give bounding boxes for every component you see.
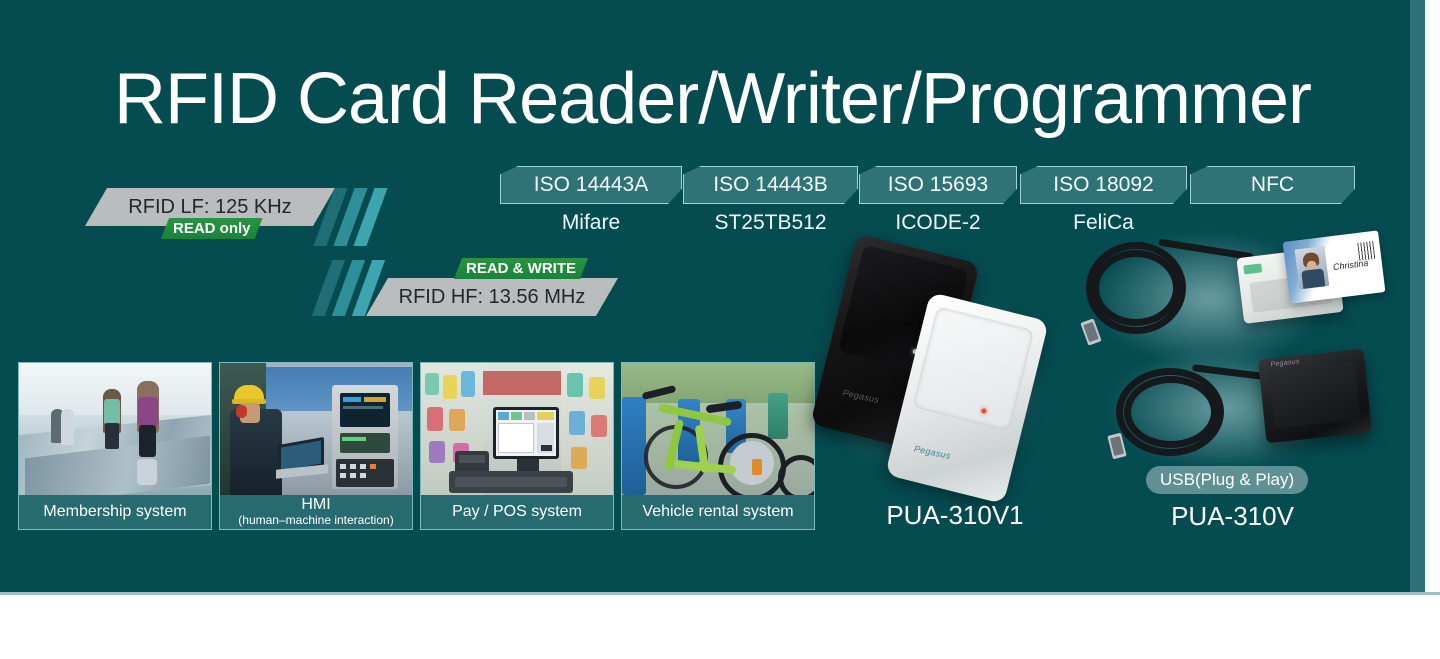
industrial-operator-photo [220,363,412,495]
product-image-pua-310v1: Pegasus Pegasus [818,240,1058,480]
standard-tag: ISO 18092 [1020,166,1187,204]
frequency-hf-bar: RFID HF: 13.56 MHz [366,278,618,316]
standard-tag: ISO 14443A [500,166,682,204]
frequency-lf-group: RFID LF: 125 KHz READ only [85,188,385,248]
application-card-vehicle-rental[interactable]: Vehicle rental system [621,362,815,530]
application-card-membership[interactable]: Membership system [18,362,212,530]
standard-item-iso18092: ISO 18092 FeliCa [1020,166,1187,235]
standard-item-iso15693: ISO 15693 ICODE-2 [859,166,1017,235]
desktop-reader-black: Pegasus [1258,349,1372,444]
usb-plug-and-play-badge: USB(Plug & Play) [1146,466,1308,494]
frequency-hf-group: RFID HF: 13.56 MHz READ & WRITE [318,258,618,318]
right-edge-accent [1410,0,1425,592]
rental-bicycles-photo [622,363,814,495]
standard-tag: ISO 15693 [859,166,1017,204]
frequency-hf-badge: READ & WRITE [454,258,588,279]
product-image-pua-310v: Christina Pegasus [1080,228,1350,458]
application-caption: Vehicle rental system [622,495,814,529]
product-name-pua-310v: PUA-310V [1145,501,1320,532]
frequency-lf-badge: READ only [161,218,263,239]
brand-mark: Pegasus [842,388,880,406]
standard-item-nfc: NFC [1190,166,1355,204]
brand-mark: Pegasus [913,443,951,461]
application-caption: HMI (human–machine interaction) [220,495,412,529]
standard-subtitle: Mifare [500,211,682,235]
id-card: Christina [1283,230,1386,303]
standard-tag: ISO 14443B [683,166,858,204]
standard-subtitle: ICODE-2 [859,211,1017,235]
frequency-hf-label: RFID HF: 13.56 MHz [399,286,586,308]
standard-item-iso14443b: ISO 14443B ST25TB512 [683,166,858,235]
standard-item-iso14443a: ISO 14443A Mifare [500,166,682,235]
decor-slashes-lf [320,188,390,246]
hero-banner: RFID Card Reader/Writer/Programmer ISO 1… [0,0,1425,592]
standard-tag: NFC [1190,166,1355,204]
application-card-hmi[interactable]: HMI (human–machine interaction) [219,362,413,530]
frequency-lf-label: RFID LF: 125 KHz [128,196,291,218]
bottom-divider [0,592,1440,595]
gym-treadmills-photo [19,363,211,495]
retail-pos-terminal-photo [421,363,613,495]
product-name-pua-310v1: PUA-310V1 [860,500,1050,531]
page-title: RFID Card Reader/Writer/Programmer [0,58,1425,140]
application-caption: Membership system [19,495,211,529]
standard-subtitle: ST25TB512 [683,211,858,235]
application-caption: Pay / POS system [421,495,613,529]
application-card-pos[interactable]: Pay / POS system [420,362,614,530]
